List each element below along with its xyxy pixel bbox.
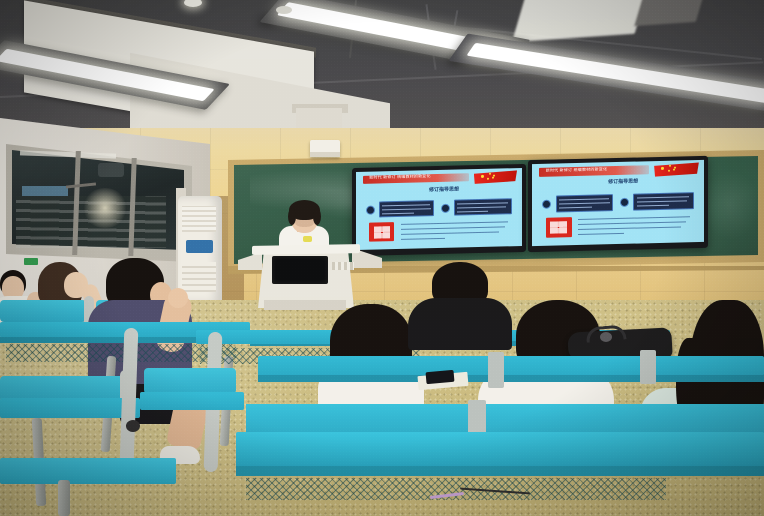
podium-controls[interactable]: [332, 262, 354, 270]
slide-title-text: 新时代 新修订 统编教材的新变化: [369, 174, 465, 184]
desk-bracket: [488, 352, 504, 388]
backpack-buckle: [600, 332, 612, 342]
student-center-black-top: [408, 298, 512, 350]
seat-leg: [58, 480, 70, 516]
slide-body-text: [578, 215, 692, 237]
left-display-slide[interactable]: 新时代 新修订 统编教材的新变化 修订指导思想: [356, 168, 522, 250]
slide-text-box: [633, 192, 693, 210]
air-conditioner-panel[interactable]: [186, 240, 213, 253]
desk-edge: [236, 466, 764, 476]
right-display-slide[interactable]: 新时代 新修订 统编教材的新变化 修订指导思想: [532, 160, 704, 246]
presenter-hair-side: [313, 208, 321, 225]
air-conditioner-vent: [182, 206, 216, 232]
seat-pivot: [126, 420, 140, 432]
classroom-photo: 新时代 新修订 统编教材的新变化 修订指导思想: [0, 0, 764, 516]
recessed-downlight-icon: [276, 6, 292, 14]
exit-sign: [24, 258, 38, 265]
slide-bullet-number: [441, 204, 450, 213]
desk-row-1-left: [0, 398, 140, 418]
desk-row-1-left2: [140, 392, 244, 410]
desk-bracket: [640, 350, 656, 384]
air-conditioner-grill: [182, 262, 216, 292]
desk-row-1: [236, 432, 764, 468]
desk-edge: [258, 375, 764, 382]
presenter-badge: [303, 236, 312, 242]
seat-cushion: [0, 458, 176, 484]
slide-bullet-number: [620, 198, 629, 207]
slide-heading: 修订指导思想: [584, 177, 663, 186]
podium-monitor[interactable]: [272, 256, 328, 284]
window-interior-device: [98, 163, 124, 177]
desk-row-2: [258, 356, 764, 376]
smartphone-on-notebook[interactable]: [426, 370, 455, 384]
slide-badge: [369, 223, 394, 242]
slide-bullet-number: [366, 206, 375, 215]
window-interior-sign: [22, 186, 68, 196]
slide-title-text: 新时代 新修订 统编教材的新变化: [546, 166, 646, 177]
chalk-smudge: [700, 170, 760, 240]
podium-base: [264, 300, 346, 310]
presenter-hair-side: [288, 208, 296, 225]
seat-back: [144, 368, 236, 394]
seat-back: [0, 300, 86, 322]
student-hand: [168, 288, 188, 308]
chinese-flag-icon: [474, 170, 517, 184]
slide-bullet-number: [542, 200, 551, 209]
slide-text-box: [379, 201, 434, 218]
slide-heading: 修订指导思想: [406, 185, 482, 194]
desk-row-1-backrest: [246, 404, 764, 434]
chinese-flag-icon: [654, 162, 699, 176]
desk-under-shelf: [246, 478, 666, 500]
slide-text-box: [556, 194, 613, 212]
window-light-glow: [82, 188, 128, 228]
slide-badge: [546, 217, 572, 237]
podium-top: [252, 244, 360, 255]
slide-text-box: [454, 199, 512, 216]
slide-body-text: [401, 221, 511, 242]
speaker-shadow: [310, 152, 340, 157]
